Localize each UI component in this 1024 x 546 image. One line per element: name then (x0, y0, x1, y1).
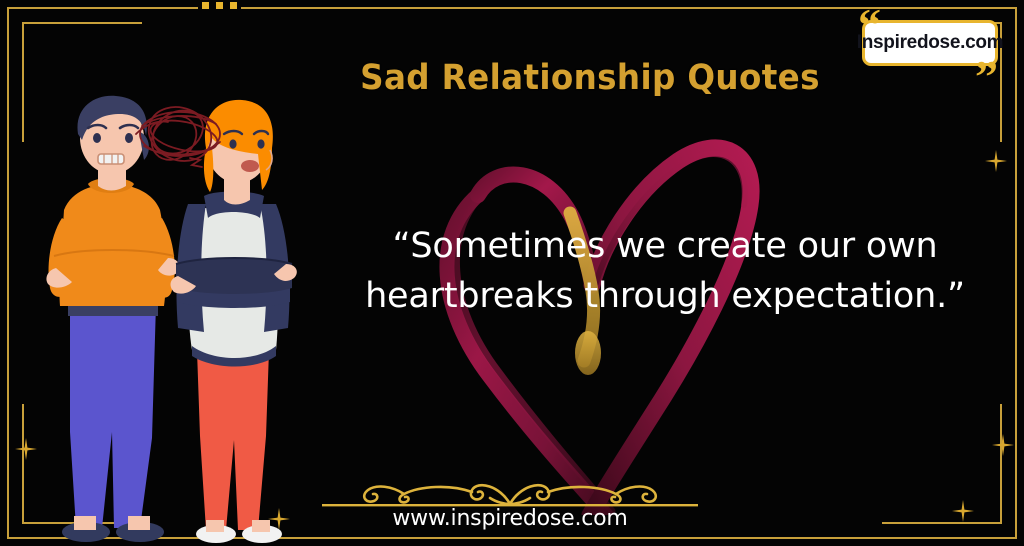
page-title: Sad Relationship Quotes (348, 58, 832, 98)
flourish-divider-icon (300, 478, 720, 508)
frustration-scribble-icon (128, 98, 238, 178)
frame-dots (198, 2, 241, 9)
quote-text: “Sometimes we create our own heartbreaks… (360, 222, 970, 321)
corner-bracket-bottom-right (882, 404, 1002, 524)
frame-dot-2 (216, 2, 223, 9)
sparkle-icon (952, 500, 974, 522)
frame-dot-3 (230, 2, 237, 9)
footer: www.inspiredose.com (300, 478, 720, 531)
quote-close-icon: ” (975, 54, 998, 100)
sparkle-icon (992, 434, 1014, 456)
website-url: www.inspiredose.com (300, 506, 720, 531)
sparkle-icon (985, 150, 1007, 172)
quote-poster: Sad Relationship Quotes Inspiredose.com … (0, 0, 1024, 546)
quote-open-icon: “ (858, 2, 881, 48)
logo[interactable]: Inspiredose.com “ ” (854, 10, 1004, 72)
frame-dot-1 (202, 2, 209, 9)
